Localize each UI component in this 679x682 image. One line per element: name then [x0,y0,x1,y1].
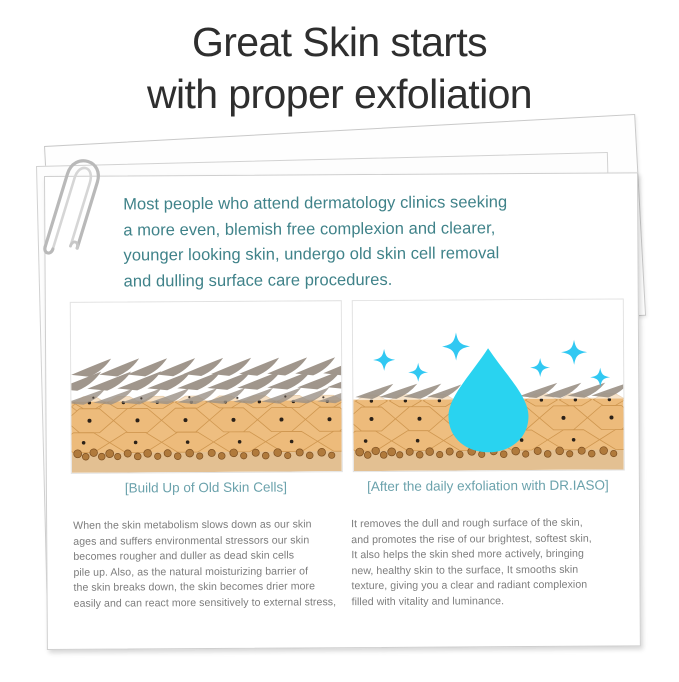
body-right-line-1: It removes the dull and rough surface of… [351,516,613,533]
body-left-line-5: the skin breaks down, the skin becomes d… [73,580,335,597]
body-left-line-4: pile up. Also, as the natural moisturizi… [73,564,335,581]
paper-card-stack: Most people who attend dermatology clini… [0,132,679,672]
skin-buildup-illustration [71,301,342,473]
illustration-panels [70,298,623,473]
body-left-line-6: easily and can react more sensitively to… [74,595,336,612]
caption-skin-exfoliated: [After the daily exfoliation with DR.IAS… [353,477,623,494]
page-title: Great Skin starts with proper exfoliatio… [0,16,679,120]
body-right-line-5: texture, giving you a clear and radiant … [351,578,613,595]
intro-line-2: a more even, blemish free complexion and… [123,215,593,243]
intro-line-4: and dulling surface care procedures. [124,266,594,294]
body-left-line-1: When the skin metabolism slows down as o… [73,517,335,534]
body-paragraphs: When the skin metabolism slows down as o… [73,515,625,518]
body-paragraph-right: It removes the dull and rough surface of… [351,516,614,611]
panel-captions: [Build Up of Old Skin Cells] [After the … [71,477,623,500]
page-title-line-2: with proper exfoliation [0,68,679,120]
body-right-line-3: It also helps the skin shed more activel… [351,547,613,564]
page-title-line-1: Great Skin starts [0,16,679,68]
body-right-line-4: new, healthy skin to the surface, It smo… [351,562,613,579]
caption-skin-buildup: [Build Up of Old Skin Cells] [71,479,341,496]
body-right-line-6: filled with vitality and luminance. [352,593,614,610]
panel-skin-buildup [70,300,343,474]
intro-line-1: Most people who attend dermatology clini… [123,190,593,218]
panel-skin-exfoliated [352,298,625,472]
front-paper-card: Most people who attend dermatology clini… [44,172,641,650]
body-left-line-2: ages and suffers environmental stressors… [73,533,335,550]
skin-exfoliated-illustration [353,299,624,471]
intro-paragraph: Most people who attend dermatology clini… [123,190,594,295]
body-right-line-2: and promotes the rise of our brightest, … [351,531,613,548]
body-paragraph-left: When the skin metabolism slows down as o… [73,517,336,612]
intro-line-3: younger looking skin, undergo old skin c… [123,241,593,269]
body-left-line-3: becomes rougher and duller as dead skin … [73,548,335,565]
